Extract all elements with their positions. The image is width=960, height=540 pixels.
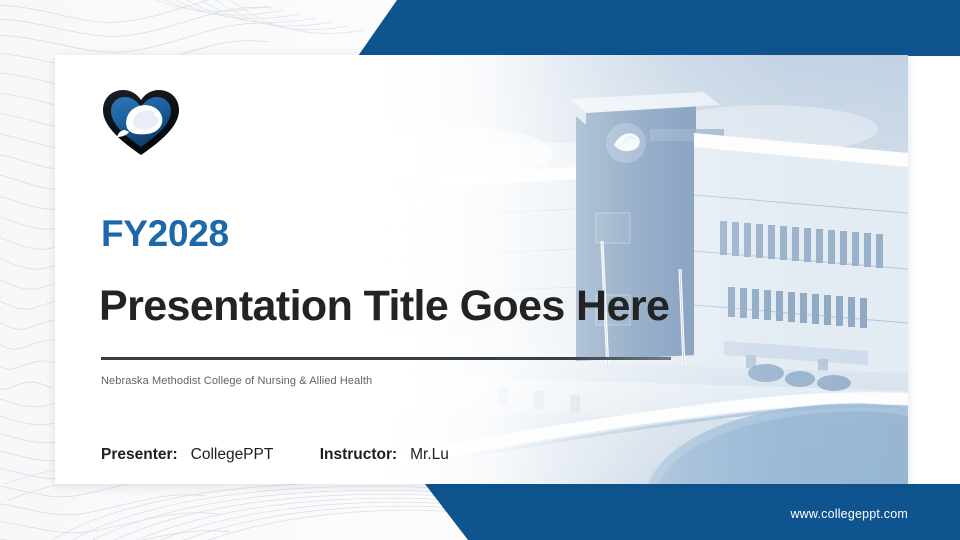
heart-dove-logo (100, 86, 182, 158)
presenter-value: CollegePPT (191, 446, 273, 463)
fiscal-year-heading: FY2028 (101, 215, 229, 252)
page-title: Presentation Title Goes Here (99, 285, 669, 328)
presenter-instructor-line: Presenter: CollegePPT Instructor: Mr.Lu (101, 446, 449, 464)
instructor-value: Mr.Lu (410, 446, 449, 463)
title-divider (101, 357, 671, 360)
presenter-label: Presenter: (101, 446, 178, 463)
footer-website-url[interactable]: www.collegeppt.com (790, 507, 908, 521)
instructor-label: Instructor: (320, 446, 398, 463)
presentation-slide: FY2028 Presentation Title Goes Here Nebr… (0, 0, 960, 540)
organization-name: Nebraska Methodist College of Nursing & … (101, 375, 372, 387)
slide-card: FY2028 Presentation Title Goes Here Nebr… (55, 55, 908, 484)
card-content: FY2028 Presentation Title Goes Here Nebr… (55, 55, 908, 484)
